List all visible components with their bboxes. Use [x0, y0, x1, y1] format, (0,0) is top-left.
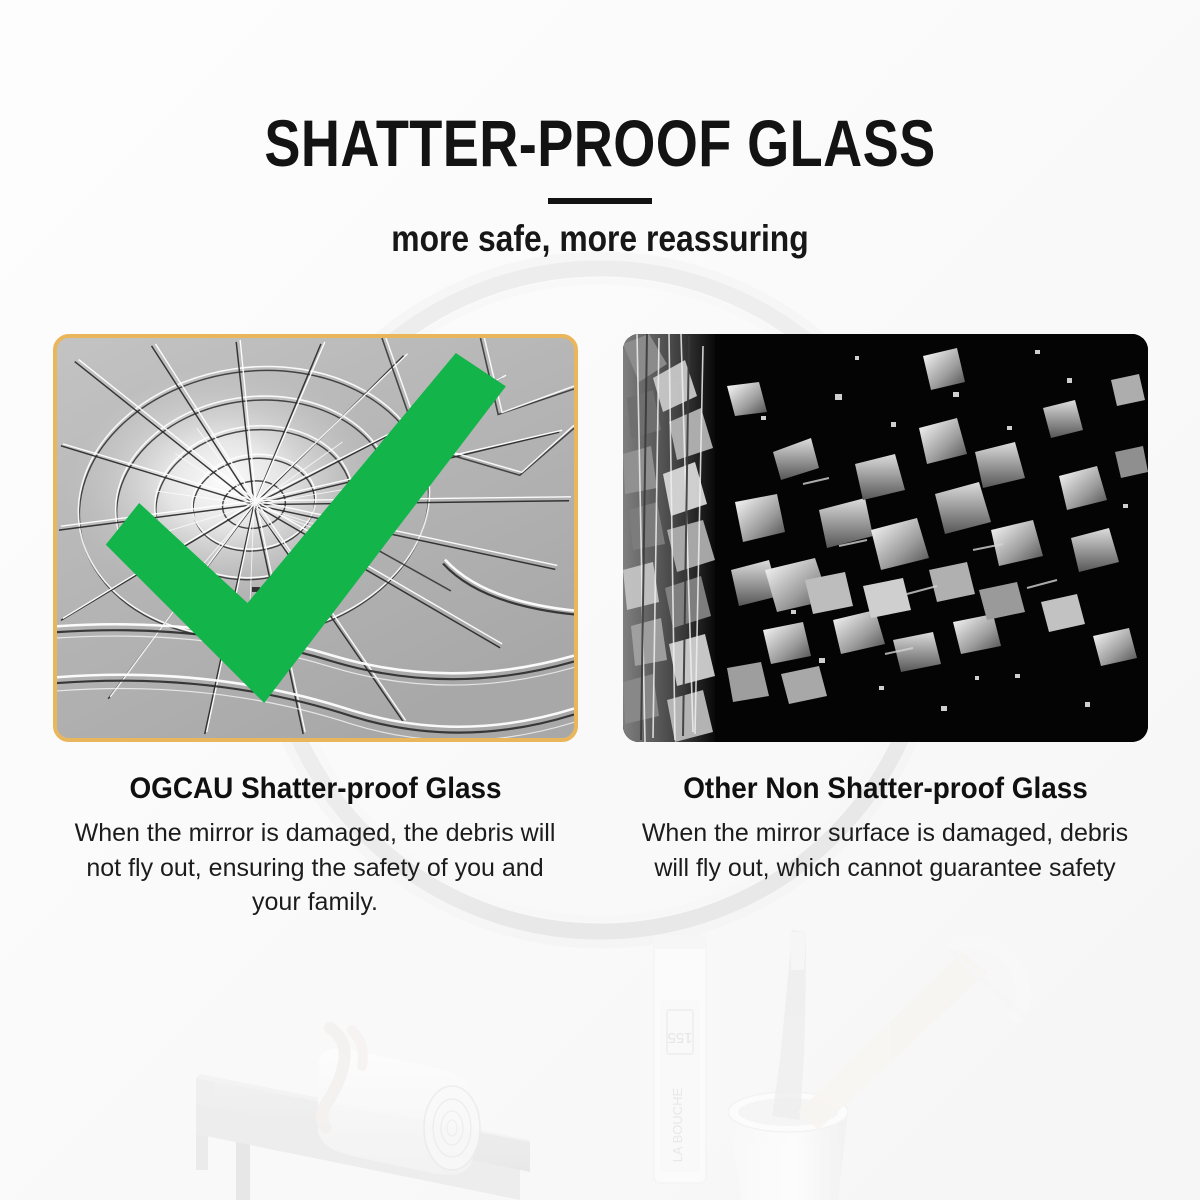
shatter-proof-glass-photo	[53, 334, 578, 742]
title-divider	[548, 198, 652, 204]
caption-title-left: OGCAU Shatter-proof Glass	[71, 772, 559, 806]
green-check-mark	[53, 334, 556, 728]
page-subtitle: more safe, more reassuring	[84, 218, 1116, 260]
header: SHATTER-PROOF GLASS more safe, more reas…	[0, 0, 1200, 260]
comparison-column-left: OGCAU Shatter-proof Glass When the mirro…	[53, 334, 578, 920]
comparison-column-right: Other Non Shatter-proof Glass When the m…	[623, 334, 1148, 920]
caption-title-right: Other Non Shatter-proof Glass	[641, 772, 1129, 806]
caption-body-left: When the mirror is damaged, the debris w…	[70, 816, 560, 920]
comparison-section: OGCAU Shatter-proof Glass When the mirro…	[0, 334, 1200, 920]
page-title: SHATTER-PROOF GLASS	[108, 0, 1092, 176]
product-feature-image: 155 LA BOUCHE	[0, 0, 1200, 1200]
caption-body-right: When the mirror surface is damaged, debr…	[640, 816, 1130, 885]
non-shatter-proof-glass-photo	[623, 334, 1148, 742]
